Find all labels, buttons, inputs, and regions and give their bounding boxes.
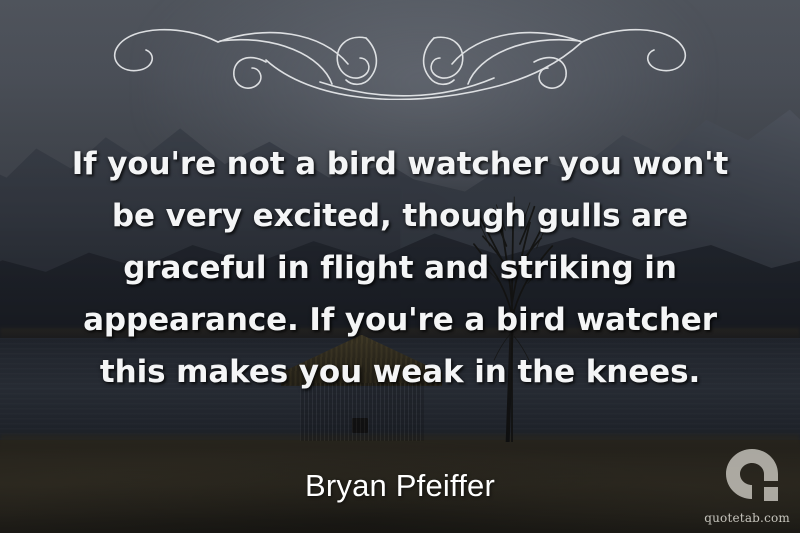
quotetab-logo-icon[interactable] xyxy=(724,447,780,505)
quote-line: be very excited, though gulls are xyxy=(50,190,750,242)
quote-line: graceful in flight and striking in xyxy=(50,242,750,294)
watermark[interactable]: quotetab.com xyxy=(700,447,792,527)
decorative-flourish-ornament xyxy=(70,8,730,100)
quote-line: If you're not a bird watcher you won't xyxy=(50,138,750,190)
quote-text: If you're not a bird watcher you won't b… xyxy=(50,138,750,398)
quote-image-canvas: If you're not a bird watcher you won't b… xyxy=(0,0,800,533)
watermark-site-label[interactable]: quotetab.com xyxy=(704,511,790,525)
quote-line: appearance. If you're a bird watcher xyxy=(50,294,750,346)
quote-content: If you're not a bird watcher you won't b… xyxy=(0,0,800,533)
quote-line: this makes you weak in the knees. xyxy=(50,346,750,398)
author-name: Bryan Pfeiffer xyxy=(0,468,800,504)
